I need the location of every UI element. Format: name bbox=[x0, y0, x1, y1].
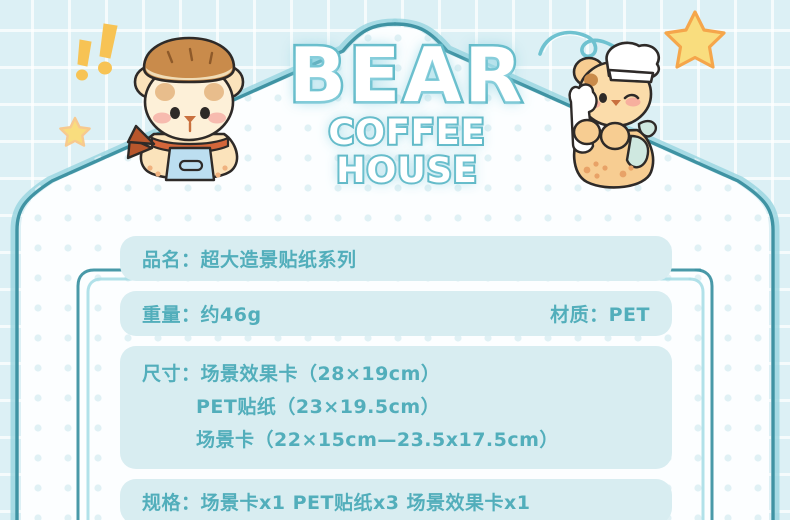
specification-text: 规格：场景卡x1 PET贴纸x3 场景效果卡x1 bbox=[142, 492, 531, 514]
weight-text: 重量：约46g bbox=[142, 300, 262, 327]
info-row-dimensions: 尺寸：场景效果卡（28×19cm） PET贴纸（23×19.5cm） 场景卡（2… bbox=[120, 346, 672, 469]
poster-canvas: BEAR COFFEE HOUSE bbox=[0, 0, 790, 520]
product-info-list: 品名：超大造景贴纸系列 重量：约46g 材质：PET 尺寸：场景效果卡（28×1… bbox=[120, 236, 672, 520]
product-name-text: 品名：超大造景贴纸系列 bbox=[142, 249, 357, 271]
dimension-line-3: 场景卡（22×15cm—23.5x17.5cm） bbox=[142, 424, 650, 457]
info-row-weight-material: 重量：约46g 材质：PET bbox=[120, 291, 672, 336]
dimension-line-1: 尺寸：场景效果卡（28×19cm） bbox=[142, 358, 650, 391]
dimension-line-2: PET贴纸（23×19.5cm） bbox=[142, 391, 650, 424]
info-row-product-name: 品名：超大造景贴纸系列 bbox=[120, 236, 672, 281]
material-text: 材质：PET bbox=[550, 300, 650, 327]
info-row-specification: 规格：场景卡x1 PET贴纸x3 场景效果卡x1 bbox=[120, 479, 672, 520]
